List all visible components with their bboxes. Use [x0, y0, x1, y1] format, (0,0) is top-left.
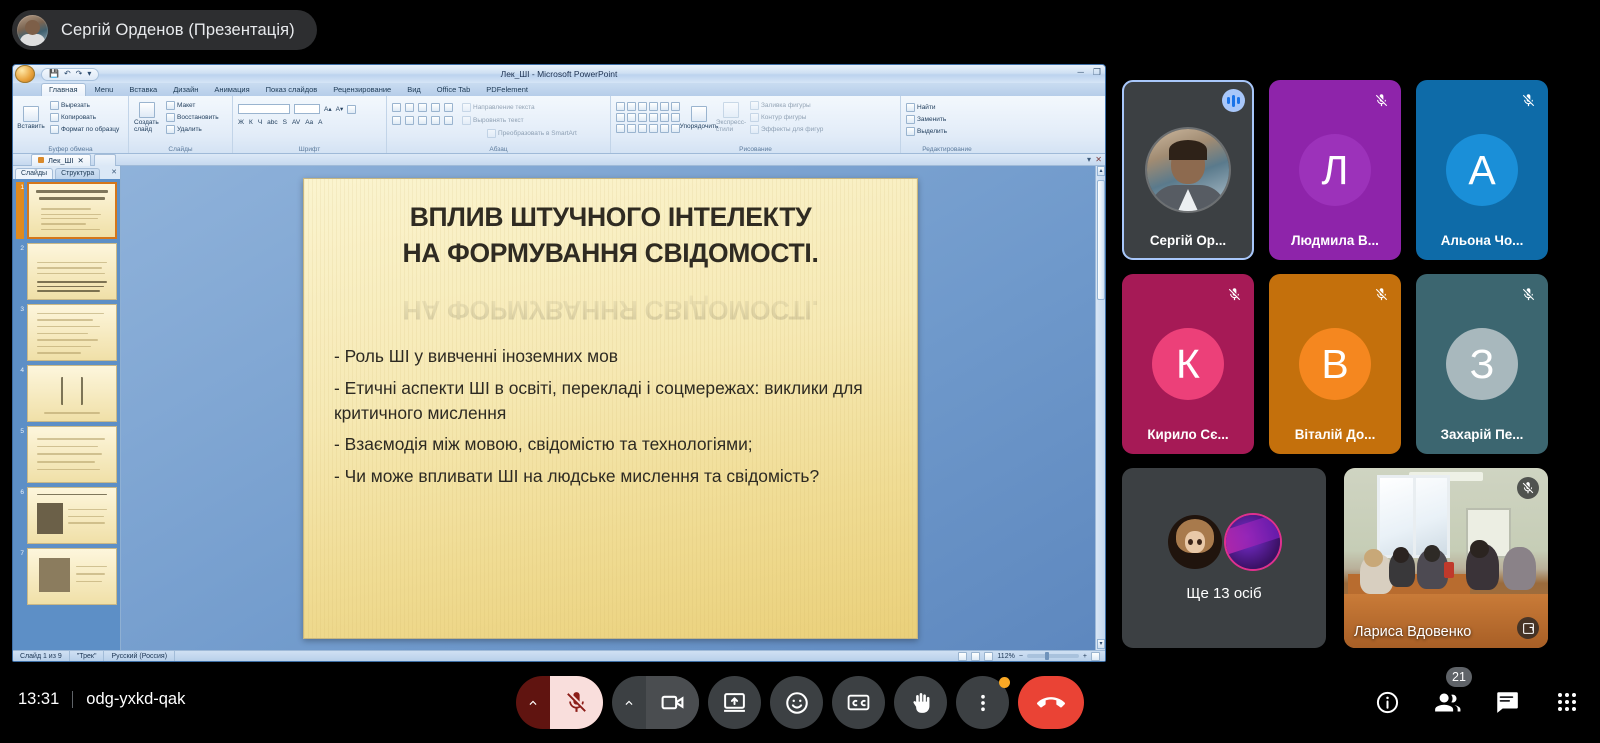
avatar [1147, 129, 1229, 211]
shape-arrow-right-icon[interactable] [649, 113, 658, 122]
ribbon-tabs[interactable]: Главная Menu Вставка Дизайн Анимация Пок… [13, 83, 1105, 96]
select-icon [906, 127, 915, 136]
shape-triangle-icon[interactable] [616, 113, 625, 122]
shape-arrow-down-icon[interactable] [660, 113, 669, 122]
new-slide-icon [139, 102, 155, 118]
ribbon-group-slides: Создать слайд Макет Восстановить Удалить… [129, 96, 233, 153]
numbering-icon[interactable] [405, 103, 414, 112]
shape-line-icon[interactable] [627, 102, 636, 111]
slide-bullet-list[interactable]: - Роль ШІ у вивченні іноземних мов - Ети… [330, 344, 891, 489]
close-pane-icon[interactable]: ✕ [111, 168, 117, 176]
font-color-button[interactable]: A [318, 119, 322, 126]
participant-name: Сергій Ор... [1122, 233, 1254, 248]
ppt-status-bar: Слайд 1 из 9 "Трек" Русский (Россия) 112… [13, 650, 1105, 661]
arrange-button[interactable]: Упорядочить [686, 102, 712, 134]
theme-name: "Трек" [70, 651, 105, 661]
mic-off-icon [1517, 477, 1539, 499]
window-buttons[interactable]: ─ ❐ [1078, 67, 1101, 78]
meeting-details-button[interactable] [1372, 687, 1402, 717]
ribbon-tab-9[interactable]: PDFelement [479, 84, 535, 96]
quick-access-toolbar[interactable]: 💾 ↶ ↷ ▾ [41, 68, 99, 81]
clear-format-icon[interactable] [347, 105, 356, 114]
presenter-avatar [17, 15, 48, 46]
zoom-level: 112% [997, 653, 1014, 660]
participants-grid: Сергій Ор... Л Людмила В... А Альона Чо.… [1122, 80, 1588, 650]
ribbon-group-clipboard: Вставить Вырезать Копировать Формат по о… [13, 96, 129, 153]
document-tab-bar[interactable]: Лек_ШІ ✕ ▾ ✕ [13, 154, 1105, 166]
shape-textbox-icon[interactable] [616, 102, 625, 111]
decrease-font-button[interactable]: A▾ [336, 105, 344, 113]
slide-bullet-1: - Етичні аспекти ШІ в освіті, перекладі … [334, 376, 887, 425]
justify-icon[interactable] [431, 116, 440, 125]
anime-avatar [1168, 515, 1222, 569]
minimize-ribbon-icon[interactable]: ▾ [1087, 155, 1091, 164]
view-slideshow-icon[interactable] [984, 652, 993, 661]
paste-icon [23, 106, 39, 122]
ribbon-group-drawing: Упорядочить Экспресс-стили Заливка фигур… [611, 96, 901, 153]
font-size-input[interactable] [294, 104, 320, 114]
avatar-initial: В [1299, 328, 1371, 400]
thumbnail-preview [27, 548, 117, 605]
copy-icon [50, 113, 59, 122]
paste-button[interactable]: Вставить [18, 102, 44, 134]
video-feed [1344, 468, 1548, 648]
shape-oval-icon[interactable] [660, 102, 669, 111]
ribbon-tab-1[interactable]: Menu [88, 84, 121, 96]
mic-off-icon [1223, 283, 1245, 305]
top-bar: Сергій Орденов (Презентація) [0, 0, 1600, 60]
scissors-icon [50, 101, 59, 110]
cut-button[interactable]: Вырезать [50, 101, 119, 110]
shape-outline-button[interactable]: Контур фигуры [750, 113, 823, 122]
ribbon-group-paragraph: Направление текста Выровнять текст Преоб… [387, 96, 611, 153]
office-orb-icon[interactable] [15, 65, 35, 83]
shape-moon-icon[interactable] [671, 113, 680, 122]
ribbon-tab-0[interactable]: Главная [41, 83, 86, 96]
tab-outline[interactable]: Структура [55, 168, 100, 179]
tab-slides[interactable]: Слайды [15, 168, 53, 179]
shape-brace-right-icon[interactable] [660, 124, 669, 133]
ribbon-group-font: A▴ A▾ Ж К Ч abc S AV Aa A Шрифт [233, 96, 387, 153]
avatar-initial: К [1152, 328, 1224, 400]
participant-tile-1[interactable]: Л Людмила В... [1269, 80, 1401, 260]
status-right[interactable]: 112% − + [958, 652, 1105, 661]
shape-rect-icon[interactable] [649, 102, 658, 111]
zoom-out-icon[interactable]: − [1019, 653, 1023, 660]
participant-tile-4[interactable]: В Віталій До... [1269, 274, 1401, 454]
thumbnail-7[interactable]: 7 [16, 548, 117, 605]
mic-off-icon [1370, 89, 1392, 111]
spacing-button[interactable]: AV [292, 119, 300, 126]
camera-options-chevron-icon[interactable] [612, 676, 646, 729]
shape-star-icon[interactable] [671, 124, 680, 133]
select-button[interactable]: Выделить [906, 127, 988, 136]
save-icon[interactable]: 💾 [49, 70, 59, 78]
raise-hand-button[interactable] [894, 676, 947, 729]
ribbon-tab-2[interactable]: Вставка [122, 84, 164, 96]
underline-button[interactable]: Ч [258, 119, 262, 126]
participant-name: Лариса Вдовенко [1354, 624, 1471, 640]
undo-icon[interactable]: ↶ [64, 70, 71, 78]
delete-icon [166, 125, 175, 134]
ribbon-tab-5[interactable]: Показ слайдов [259, 84, 325, 96]
shape-effects-icon [750, 125, 759, 134]
participant-count-badge: 21 [1446, 667, 1472, 687]
presenter-name: Сергій Орденов (Презентація) [61, 21, 295, 40]
quick-styles-icon [723, 102, 739, 118]
participant-name: Віталій До... [1269, 427, 1401, 442]
reactions-button[interactable] [770, 676, 823, 729]
avatar-initial: Л [1299, 134, 1371, 206]
thumbnail-6[interactable]: 6 [16, 487, 117, 544]
participant-name: Людмила В... [1269, 233, 1401, 248]
replace-icon [906, 115, 915, 124]
scroll-down-icon[interactable]: ▾ [1097, 639, 1105, 649]
find-button[interactable]: Найти [906, 103, 988, 112]
group-label-font: Шрифт [233, 146, 386, 153]
avatar-initial: А [1446, 134, 1518, 206]
mic-off-icon [1370, 283, 1392, 305]
powerpoint-window[interactable]: 💾 ↶ ↷ ▾ Лек_ШІ - Microsoft PowerPoint ─ … [12, 64, 1106, 662]
reset-icon [166, 113, 175, 122]
ppt-title-bar: 💾 ↶ ↷ ▾ Лек_ШІ - Microsoft PowerPoint ─ … [13, 65, 1105, 83]
participant-name: Кирило Сє... [1122, 427, 1254, 442]
thumbnail-preview [27, 182, 117, 239]
participant-tile-2[interactable]: А Альона Чо... [1416, 80, 1548, 260]
chat-button[interactable] [1492, 687, 1522, 717]
group-label-clipboard: Буфер обмена [13, 146, 128, 153]
increase-font-button[interactable]: A▴ [324, 105, 332, 113]
slide-thumbnail-pane[interactable]: Слайды Структура ✕ 1 [13, 166, 121, 661]
group-label-editing: Редактирование [901, 146, 993, 153]
current-slide[interactable]: ВПЛИВ ШТУЧНОГО ІНТЕЛЕКТУ НА ФОРМУВАННЯ С… [303, 178, 918, 639]
increase-indent-icon[interactable] [431, 103, 440, 112]
speaking-indicator-icon [1222, 89, 1245, 112]
video-participant-tile[interactable]: Лариса Вдовенко [1344, 468, 1548, 648]
shape-elbow2-icon[interactable] [638, 113, 647, 122]
new-document-tab[interactable] [94, 154, 116, 166]
thumbnail-2[interactable]: 2 [16, 243, 117, 300]
camera-control-group[interactable] [612, 676, 699, 729]
activities-button[interactable] [1552, 687, 1582, 717]
align-text-icon [462, 116, 471, 125]
strikethrough-button[interactable]: abc [267, 119, 277, 126]
slide-title-reflection: НА ФОРМУВАННЯ СВІДОМОСТІ. [330, 262, 891, 324]
ribbon-group-editing: Найти Заменить Выделить Редактирование [901, 96, 993, 153]
shape-brace-left-icon[interactable] [649, 124, 658, 133]
shape-flow-icon[interactable] [616, 124, 625, 133]
shape-curve-icon[interactable] [627, 124, 636, 133]
quick-styles-button[interactable]: Экспресс-стили [718, 102, 744, 134]
thumbnail-preview [27, 426, 117, 483]
document-icon [38, 157, 44, 163]
more-participants-tile[interactable]: Ще 13 осіб [1122, 468, 1326, 648]
bullets-icon[interactable] [392, 103, 401, 112]
notification-dot [999, 677, 1010, 688]
redo-icon[interactable]: ↷ [76, 70, 83, 78]
slide-pane-tabs[interactable]: Слайды Структура ✕ [13, 166, 120, 179]
group-label-paragraph: Абзац [387, 146, 610, 153]
participant-tile-0[interactable]: Сергій Ор... [1122, 80, 1254, 260]
decrease-indent-icon[interactable] [418, 103, 427, 112]
mic-off-icon [1517, 283, 1539, 305]
new-slide-button[interactable]: Создать слайд [134, 102, 160, 134]
document-tab[interactable]: Лек_ШІ ✕ [31, 154, 91, 166]
camera-toggle[interactable] [646, 676, 699, 729]
presenter-chip[interactable]: Сергій Орденов (Презентація) [12, 10, 317, 50]
thumbnail-list[interactable]: 1 2 [13, 179, 120, 661]
microphone-toggle[interactable] [550, 676, 603, 729]
layout-button[interactable]: Макет [166, 101, 219, 110]
delete-slide-button[interactable]: Удалить [166, 125, 219, 134]
close-document-icon[interactable]: ✕ [78, 156, 84, 165]
ribbon[interactable]: Вставить Вырезать Копировать Формат по о… [13, 96, 1105, 154]
shape-arc-icon[interactable] [638, 124, 647, 133]
leave-call-button[interactable] [1018, 676, 1084, 729]
find-icon [906, 103, 915, 112]
thumbnail-preview [27, 243, 117, 300]
view-sorter-icon[interactable] [971, 652, 980, 661]
font-name-input[interactable] [238, 104, 290, 114]
logo-avatar [1226, 515, 1280, 569]
view-normal-icon[interactable] [958, 652, 967, 661]
group-label-drawing: Рисование [611, 146, 900, 153]
participant-name: Захарій Пе... [1416, 427, 1548, 442]
language-indicator[interactable]: Русский (Россия) [104, 651, 175, 661]
customize-icon[interactable]: ▾ [87, 70, 91, 78]
call-controls [516, 676, 1084, 729]
line-spacing-icon[interactable] [444, 103, 453, 112]
current-time: 13:31 [18, 690, 59, 709]
zoom-in-icon[interactable]: + [1083, 653, 1087, 660]
participant-tile-5[interactable]: З Захарій Пе... [1416, 274, 1548, 454]
fit-to-window-icon[interactable] [1091, 652, 1100, 661]
ribbon-tab-7[interactable]: Вид [400, 84, 428, 96]
brush-icon [50, 125, 59, 134]
slide-editing-area[interactable]: ВПЛИВ ШТУЧНОГО ІНТЕЛЕКТУ НА ФОРМУВАННЯ С… [121, 166, 1105, 661]
participant-tile-3[interactable]: К Кирило Сє... [1122, 274, 1254, 454]
group-label-slides: Слайды [129, 146, 232, 153]
participant-name: Альона Чо... [1416, 233, 1548, 248]
ribbon-tab-3[interactable]: Дизайн [166, 84, 205, 96]
more-options-button[interactable] [956, 676, 1009, 729]
close-document-button[interactable]: ✕ [1095, 155, 1102, 164]
present-now-button[interactable] [708, 676, 761, 729]
meeting-info: 13:31 odg-yxkd-qak [18, 690, 185, 709]
shape-fill-button[interactable]: Заливка фигуры [750, 101, 823, 110]
bold-button[interactable]: Ж [238, 119, 244, 126]
slide-bullet-3: - Чи може впливати ШІ на людське мисленн… [334, 464, 887, 489]
align-right-icon[interactable] [418, 116, 427, 125]
slide-counter: Слайд 1 из 9 [13, 651, 70, 661]
reset-button[interactable]: Восстановить [166, 113, 219, 122]
thumbnail-4[interactable]: 4 [16, 365, 117, 422]
convert-smartart-button[interactable]: Преобразовать в SmartArt [487, 129, 577, 138]
format-painter-button[interactable]: Формат по образцу [50, 125, 119, 134]
align-left-icon[interactable] [392, 116, 401, 125]
align-text-button[interactable]: Выровнять текст [462, 116, 524, 125]
slide-vertical-scrollbar[interactable]: ▴ ▾ [1095, 166, 1105, 661]
slide-bullet-2: - Взаємодія між мовою, свідомістю та тех… [334, 432, 887, 457]
shadow-button[interactable]: S [283, 119, 287, 126]
replace-button[interactable]: Заменить [906, 115, 988, 124]
shape-outline-icon [750, 113, 759, 122]
captions-button[interactable] [832, 676, 885, 729]
ppt-window-title: Лек_ШІ - Microsoft PowerPoint [13, 69, 1105, 79]
shape-fill-icon [750, 101, 759, 110]
text-direction-button[interactable]: Направление текста [462, 103, 535, 112]
thumbnail-1[interactable]: 1 [16, 182, 117, 239]
microphone-control-group[interactable] [516, 676, 603, 729]
more-participants-label: Ще 13 осіб [1186, 585, 1261, 602]
italic-button[interactable]: К [249, 119, 253, 126]
minimize-icon[interactable]: ─ [1078, 67, 1084, 78]
thumbnail-preview [27, 365, 117, 422]
copy-button[interactable]: Копировать [50, 113, 119, 122]
thumbnail-preview [27, 487, 117, 544]
align-center-icon[interactable] [405, 116, 414, 125]
scroll-thumb[interactable] [1097, 180, 1105, 300]
zoom-slider[interactable] [1027, 654, 1079, 658]
people-button[interactable]: 21 [1432, 687, 1462, 717]
mic-options-chevron-icon[interactable] [516, 676, 550, 729]
bottom-bar: 13:31 odg-yxkd-qak [0, 662, 1600, 743]
shape-arrow-icon[interactable] [638, 102, 647, 111]
meeting-code: odg-yxkd-qak [86, 690, 185, 709]
change-case-button[interactable]: Aa [305, 119, 313, 126]
right-controls: 21 [1372, 687, 1582, 717]
ribbon-tab-8[interactable]: Office Tab [430, 84, 478, 96]
divider [72, 691, 73, 708]
thumbnail-3[interactable]: 3 [16, 304, 117, 361]
thumbnail-preview [27, 304, 117, 361]
layout-icon [166, 101, 175, 110]
slide-bullet-0: - Роль ШІ у вивченні іноземних мов [334, 344, 887, 369]
shape-elbow-icon[interactable] [627, 113, 636, 122]
smartart-icon [487, 129, 496, 138]
columns-icon[interactable] [444, 116, 453, 125]
slide-title-line1: ВПЛИВ ШТУЧНОГО ІНТЕЛЕКТУ [330, 203, 891, 233]
mic-off-icon [1517, 89, 1539, 111]
text-direction-icon [462, 103, 471, 112]
restore-icon[interactable]: ❐ [1093, 67, 1101, 78]
shape-round-rect-icon[interactable] [671, 102, 680, 111]
pin-icon[interactable] [1517, 617, 1539, 639]
avatar-initial: З [1446, 328, 1518, 400]
more-avatars [1168, 515, 1280, 569]
ppt-body: Слайды Структура ✕ 1 [13, 166, 1105, 661]
thumbnail-5[interactable]: 5 [16, 426, 117, 483]
ribbon-tab-6[interactable]: Рецензирование [326, 84, 398, 96]
ribbon-tab-4[interactable]: Анимация [207, 84, 256, 96]
arrange-icon [691, 106, 707, 122]
shape-effects-button[interactable]: Эффекты для фигур [750, 125, 823, 134]
scroll-up-icon[interactable]: ▴ [1097, 166, 1105, 176]
